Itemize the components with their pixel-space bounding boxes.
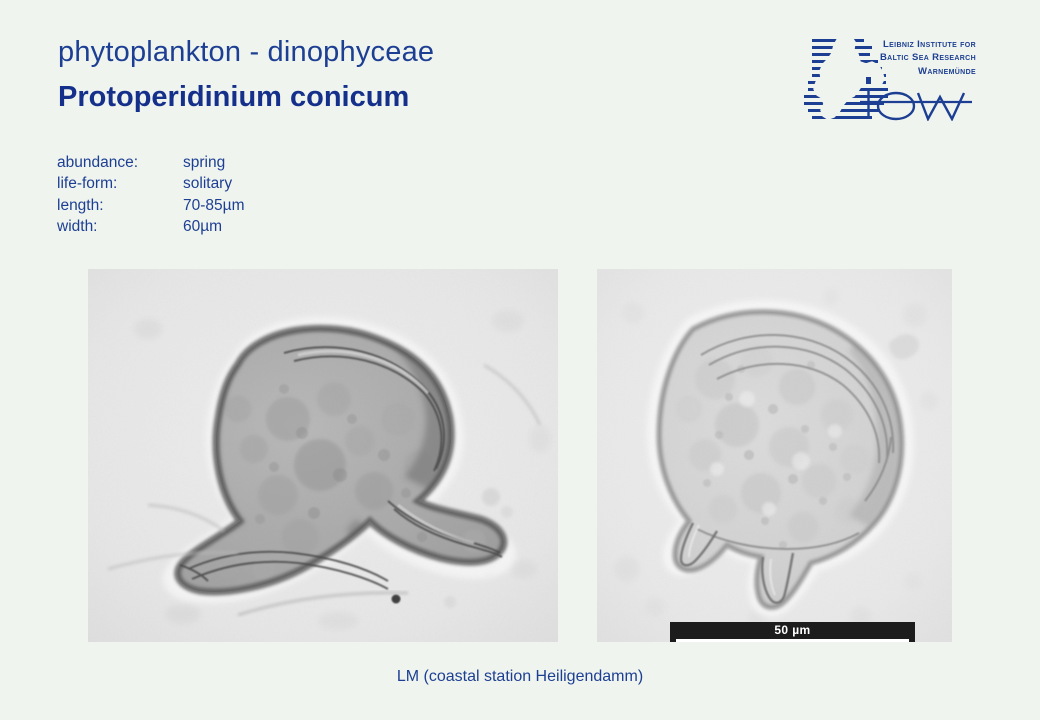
fact-label-abundance: abundance: bbox=[57, 152, 183, 173]
logo-institute-name: Leibniz Institute for Baltic Sea Researc… bbox=[880, 38, 976, 78]
scale-bar-label: 50 µm bbox=[674, 623, 911, 638]
page-title-species: Protoperidinium conicum bbox=[58, 81, 758, 114]
page-title-group: phytoplankton - dinophyceae bbox=[58, 36, 758, 69]
table-row: length: 70-85µm bbox=[57, 195, 245, 216]
slide-header: phytoplankton - dinophyceae Protoperidin… bbox=[58, 36, 758, 115]
micrograph-left-image bbox=[88, 269, 558, 642]
fact-label-width: width: bbox=[57, 216, 183, 237]
micrograph-left bbox=[88, 269, 558, 642]
fact-label-length: length: bbox=[57, 195, 183, 216]
table-row: abundance: spring bbox=[57, 152, 245, 173]
fact-value-width: 60µm bbox=[183, 216, 245, 237]
logo-text-line-2: Baltic Sea Research bbox=[880, 51, 976, 64]
logo-text-line-1: Leibniz Institute for bbox=[880, 38, 976, 51]
iow-wordmark-icon bbox=[860, 75, 978, 121]
micrograph-right-image bbox=[597, 269, 952, 642]
iow-logo: Leibniz Institute for Baltic Sea Researc… bbox=[798, 33, 978, 121]
scale-bar-rule bbox=[676, 639, 909, 642]
fact-value-abundance: spring bbox=[183, 152, 245, 173]
fact-value-length: 70-85µm bbox=[183, 195, 245, 216]
table-row: life-form: solitary bbox=[57, 173, 245, 194]
species-facts-table: abundance: spring life-form: solitary le… bbox=[57, 152, 245, 238]
fact-label-life-form: life-form: bbox=[57, 173, 183, 194]
scale-bar: 50 µm bbox=[670, 622, 915, 642]
table-row: width: 60µm bbox=[57, 216, 245, 237]
micrograph-right: 50 µm bbox=[597, 269, 952, 642]
fact-value-life-form: solitary bbox=[183, 173, 245, 194]
figure-caption: LM (coastal station Heiligendamm) bbox=[0, 668, 1040, 686]
